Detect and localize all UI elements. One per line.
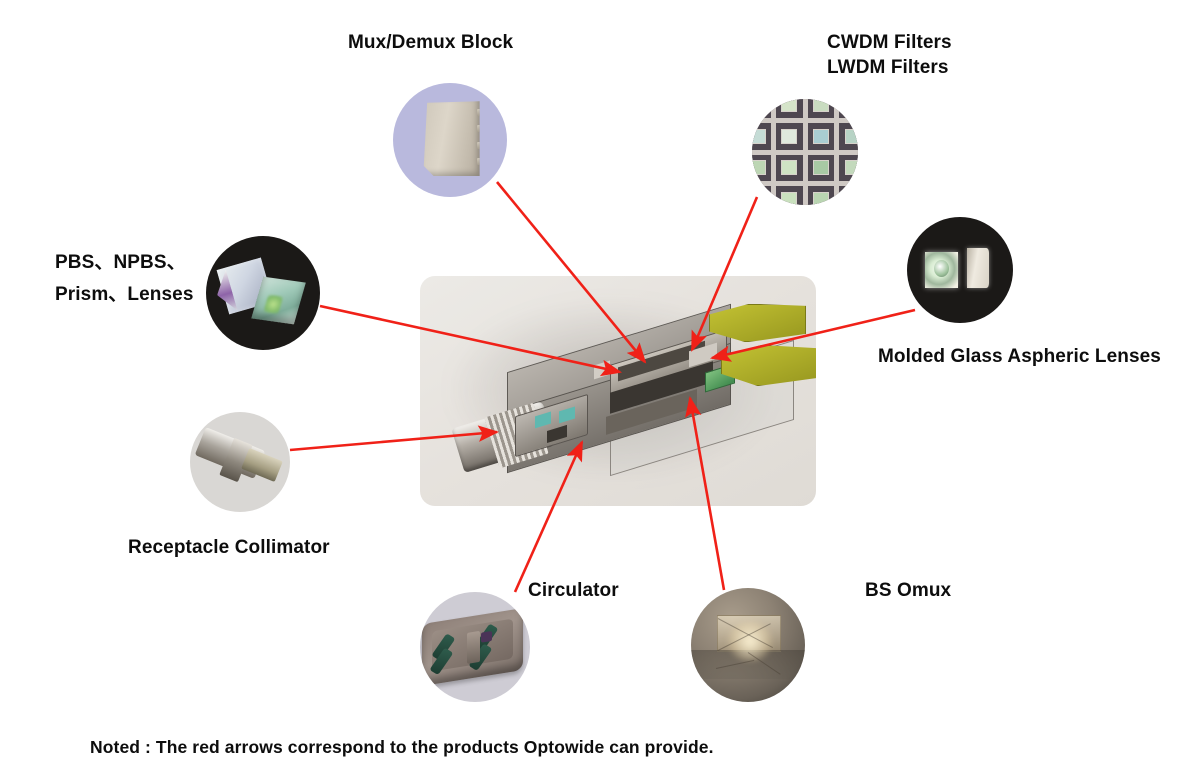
cwdm-cell bbox=[776, 186, 803, 205]
diagram-canvas: Mux/Demux Block CWDM Filters LWDM Filter… bbox=[0, 0, 1189, 779]
label-lwdm-filters: LWDM Filters bbox=[827, 55, 949, 80]
mux-tooth-3 bbox=[477, 142, 483, 149]
cwdm-cell bbox=[808, 155, 835, 182]
label-receptacle-collimator: Receptacle Collimator bbox=[128, 535, 330, 560]
cwdm-cell bbox=[776, 155, 803, 182]
cwdm-cell bbox=[839, 123, 858, 150]
aspheric-lens-half-element bbox=[967, 248, 988, 288]
mux-demux-block-icon bbox=[393, 83, 507, 197]
cwdm-cell bbox=[752, 123, 771, 150]
cwdm-cell bbox=[808, 123, 835, 150]
circulator-post bbox=[467, 631, 480, 664]
circulator-icon bbox=[420, 592, 530, 702]
label-bs-omux: BS Omux bbox=[865, 578, 951, 603]
mux-tooth-1 bbox=[477, 109, 483, 116]
cwdm-cell bbox=[776, 99, 803, 118]
cwdm-cell bbox=[839, 155, 858, 182]
cwdm-cell bbox=[776, 123, 803, 150]
label-pbs-npbs: PBS、NPBS、 bbox=[55, 250, 186, 275]
cwdm-filter-grid bbox=[752, 99, 858, 205]
cwdm-cell bbox=[752, 155, 771, 182]
label-circulator: Circulator bbox=[528, 578, 619, 603]
receptacle-collimator-icon bbox=[190, 412, 290, 512]
collimator-tip bbox=[241, 448, 283, 482]
cwdm-filters-icon bbox=[752, 99, 858, 205]
pbs-npbs-prism-lenses-icon bbox=[206, 236, 320, 350]
optical-transceiver-assembly-image bbox=[420, 276, 816, 506]
cwdm-cell bbox=[752, 99, 771, 118]
aspheric-lens-element bbox=[925, 252, 958, 288]
mux-tooth-2 bbox=[477, 125, 483, 132]
footnote-note: Noted : The red arrows correspond to the… bbox=[90, 736, 714, 759]
label-molded-glass-aspheric-lenses: Molded Glass Aspheric Lenses bbox=[878, 344, 1161, 369]
cwdm-cell bbox=[839, 99, 858, 118]
bs-omux-icon bbox=[691, 588, 805, 702]
cwdm-cell bbox=[839, 186, 858, 205]
molded-glass-aspheric-lenses-icon bbox=[907, 217, 1013, 323]
label-mux-demux-block: Mux/Demux Block bbox=[348, 30, 513, 55]
cwdm-cell bbox=[808, 186, 835, 205]
mux-tooth-4 bbox=[477, 158, 483, 165]
circulator-housing bbox=[422, 608, 523, 686]
mux-block-body bbox=[423, 101, 480, 176]
label-prism-lenses: Prism、Lenses bbox=[55, 282, 194, 307]
cwdm-cell bbox=[808, 99, 835, 118]
label-cwdm-filters: CWDM Filters bbox=[827, 30, 952, 55]
cwdm-cell bbox=[752, 186, 771, 205]
